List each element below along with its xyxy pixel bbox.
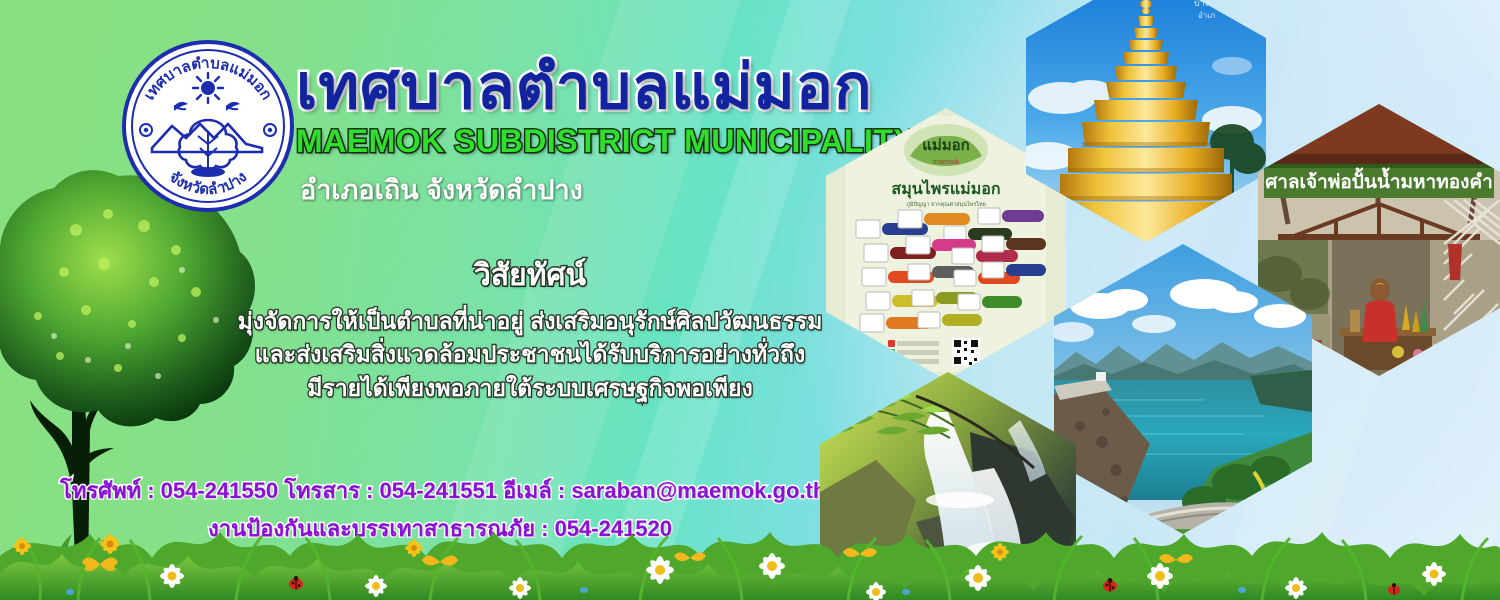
poster-subcaption: ภูมิปัญญา จากคุณค่าสมุนไพรไทย	[906, 201, 986, 208]
page-title-thai: เทศบาลตำบลแม่มอก	[296, 55, 956, 121]
municipality-logo: เทศบาลตำบลแม่มอก จังหวัดลำปาง	[122, 40, 294, 212]
logo-artwork: เทศบาลตำบลแม่มอก จังหวัดลำปาง	[122, 40, 294, 212]
grass-flower-border	[0, 504, 1500, 600]
vision-block: วิสัยทัศน์ มุ่งจัดการให้เป็นตำบลที่น่าอย…	[210, 252, 850, 405]
municipality-banner: เทศบาลตำบลแม่มอก จังหวัดลำปาง เทศบาลตำบล…	[0, 0, 1500, 600]
page-title-english: MAEMOK SUBDISTRICT MUNICIPALITY	[296, 123, 956, 160]
svg-text:maemok: maemok	[933, 159, 960, 166]
pagoda-sub2: อำเภ	[1198, 11, 1215, 20]
vision-line-1: มุ่งจัดการให้เป็นตำบลที่น่าอยู่ ส่งเสริม…	[210, 305, 850, 338]
vision-heading: วิสัยทัศน์	[210, 252, 850, 299]
pagoda-sub1: บ้านกุ่	[1194, 0, 1216, 9]
contact-line-phone-fax-email[interactable]: โทรศัพท์ : 054-241550 โทรสาร : 054-24155…	[60, 474, 820, 507]
vision-line-3: มีรายได้เพียงพอภายใต้ระบบเศรษฐกิจพอเพียง	[210, 372, 850, 405]
poster-caption: สมุนไพรแม่มอก	[891, 179, 1000, 199]
vision-line-2: และส่งเสริมสิ่งแวดล้อมประชาชนได้รับบริกา…	[210, 338, 850, 371]
poster-brand-text: แม่มอก	[922, 137, 970, 154]
